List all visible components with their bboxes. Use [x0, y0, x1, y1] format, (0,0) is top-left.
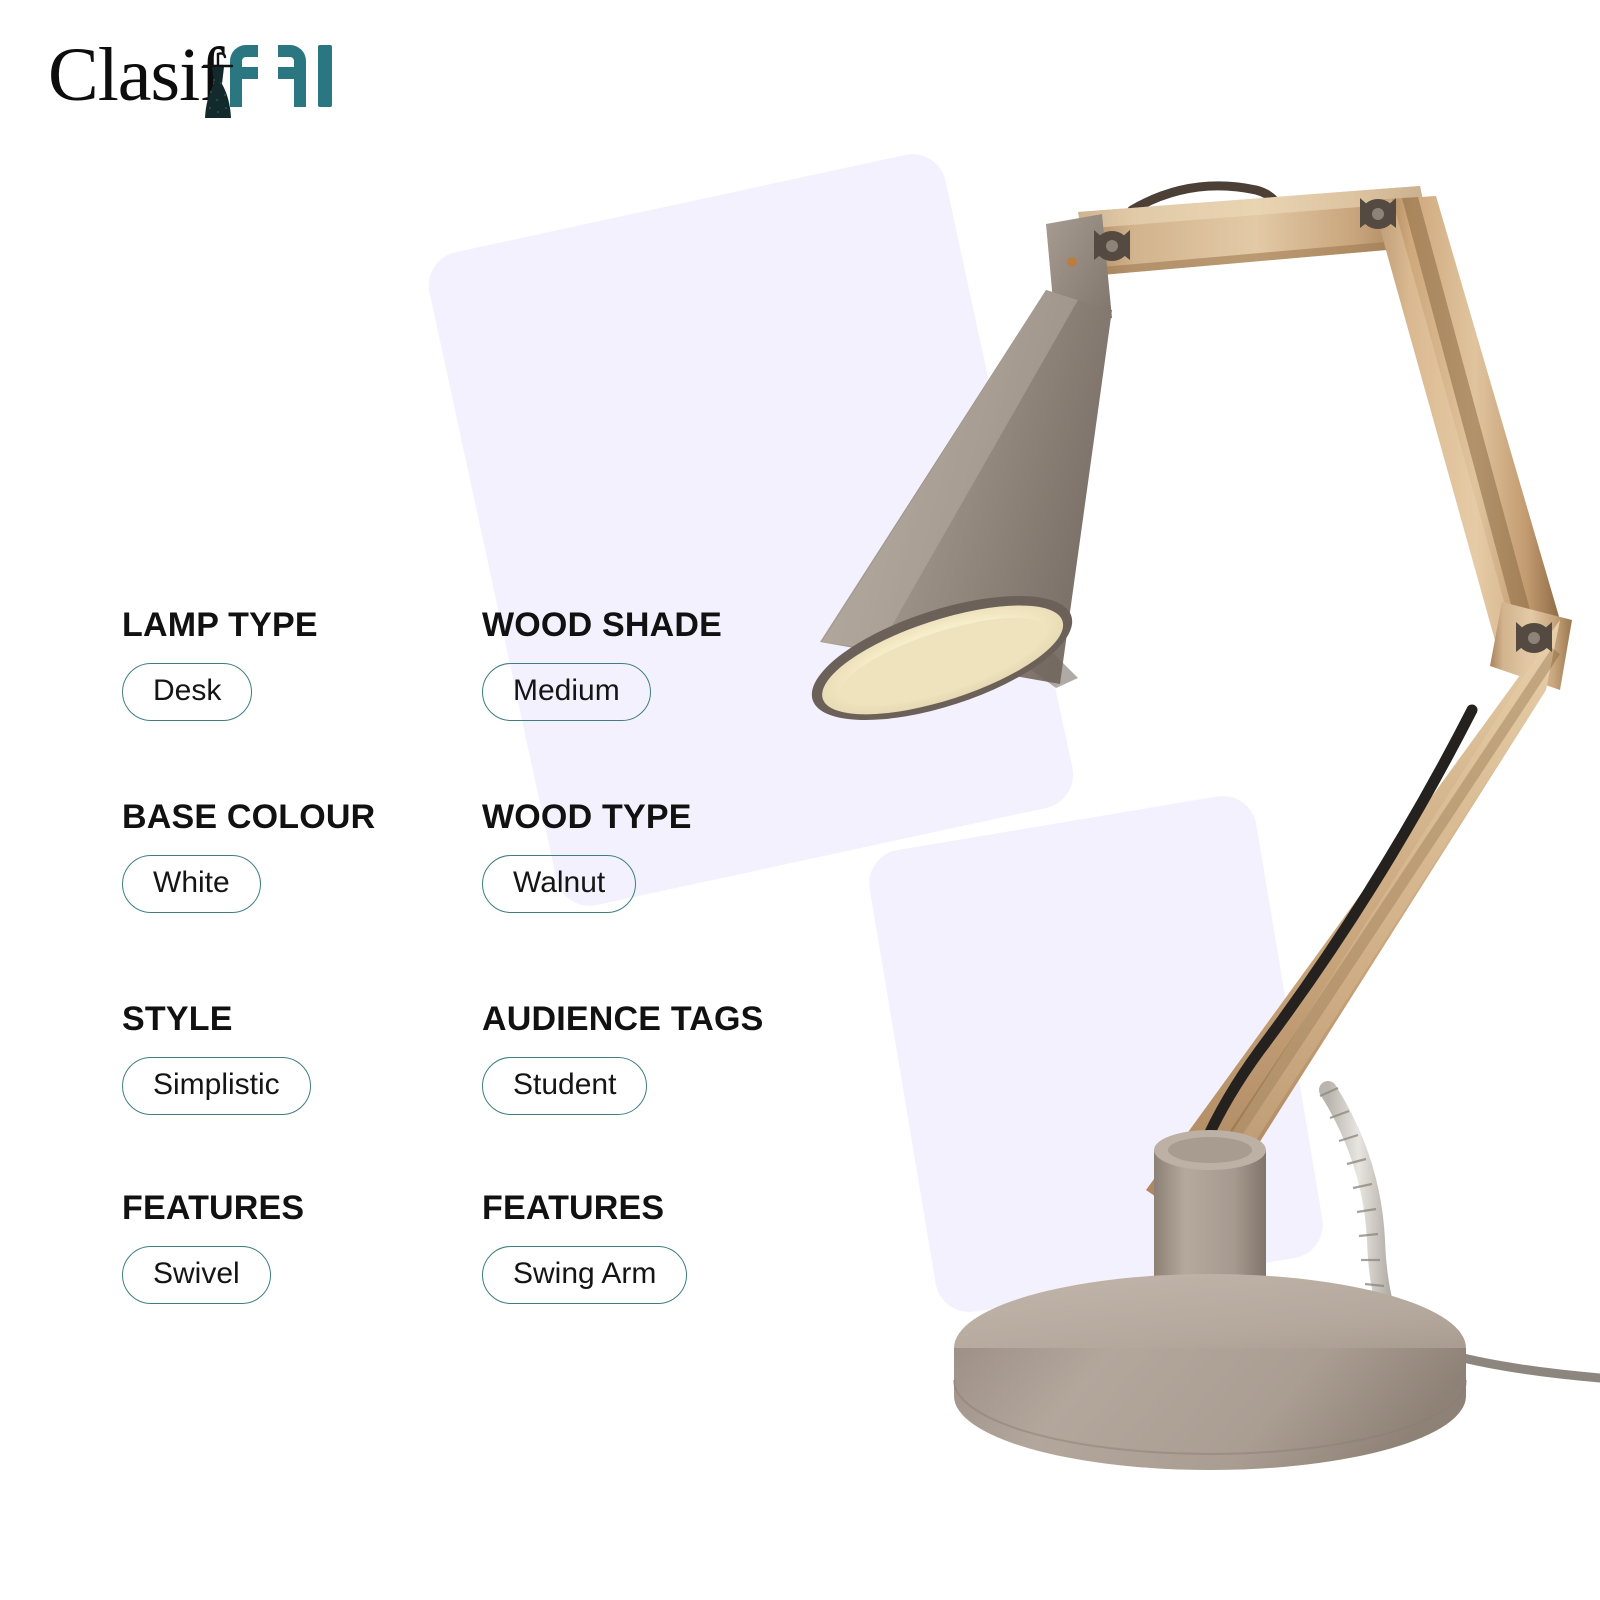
attribute-label: STYLE: [122, 999, 311, 1039]
product-image-lamp: [760, 150, 1600, 1480]
attribute-value-pill[interactable]: Desk: [122, 663, 252, 721]
brand-logo[interactable]: Clasif: [48, 28, 340, 114]
attribute-audience-tags: AUDIENCE TAGS Student: [482, 999, 764, 1115]
attribute-wood-shade: WOOD SHADE Medium: [482, 605, 722, 721]
attribute-wood-type: WOOD TYPE Walnut: [482, 797, 692, 913]
attribute-label: WOOD SHADE: [482, 605, 722, 645]
brand-wordmark: Clasif: [48, 36, 224, 114]
attribute-value-pill[interactable]: Simplistic: [122, 1057, 311, 1115]
attribute-label: WOOD TYPE: [482, 797, 692, 837]
attribute-style: STYLE Simplistic: [122, 999, 311, 1115]
attribute-value-pill[interactable]: Swing Arm: [482, 1246, 687, 1304]
attribute-value-pill[interactable]: Walnut: [482, 855, 636, 913]
attribute-value-pill[interactable]: Swivel: [122, 1246, 271, 1304]
attribute-label: BASE COLOUR: [122, 797, 375, 837]
attribute-value-pill[interactable]: Student: [482, 1057, 647, 1115]
attribute-features-secondary: FEATURES Swing Arm: [482, 1188, 687, 1304]
attribute-label: FEATURES: [482, 1188, 687, 1228]
attribute-label: AUDIENCE TAGS: [482, 999, 764, 1039]
attribute-lamp-type: LAMP TYPE Desk: [122, 605, 318, 721]
attribute-value-pill[interactable]: White: [122, 855, 261, 913]
ai-monogram-icon: [228, 43, 340, 114]
attribute-label: LAMP TYPE: [122, 605, 318, 645]
attribute-base-colour: BASE COLOUR White: [122, 797, 375, 913]
attribute-value-pill[interactable]: Medium: [482, 663, 651, 721]
dress-icon: [200, 50, 236, 122]
attribute-label: FEATURES: [122, 1188, 304, 1228]
attribute-features-primary: FEATURES Swivel: [122, 1188, 304, 1304]
